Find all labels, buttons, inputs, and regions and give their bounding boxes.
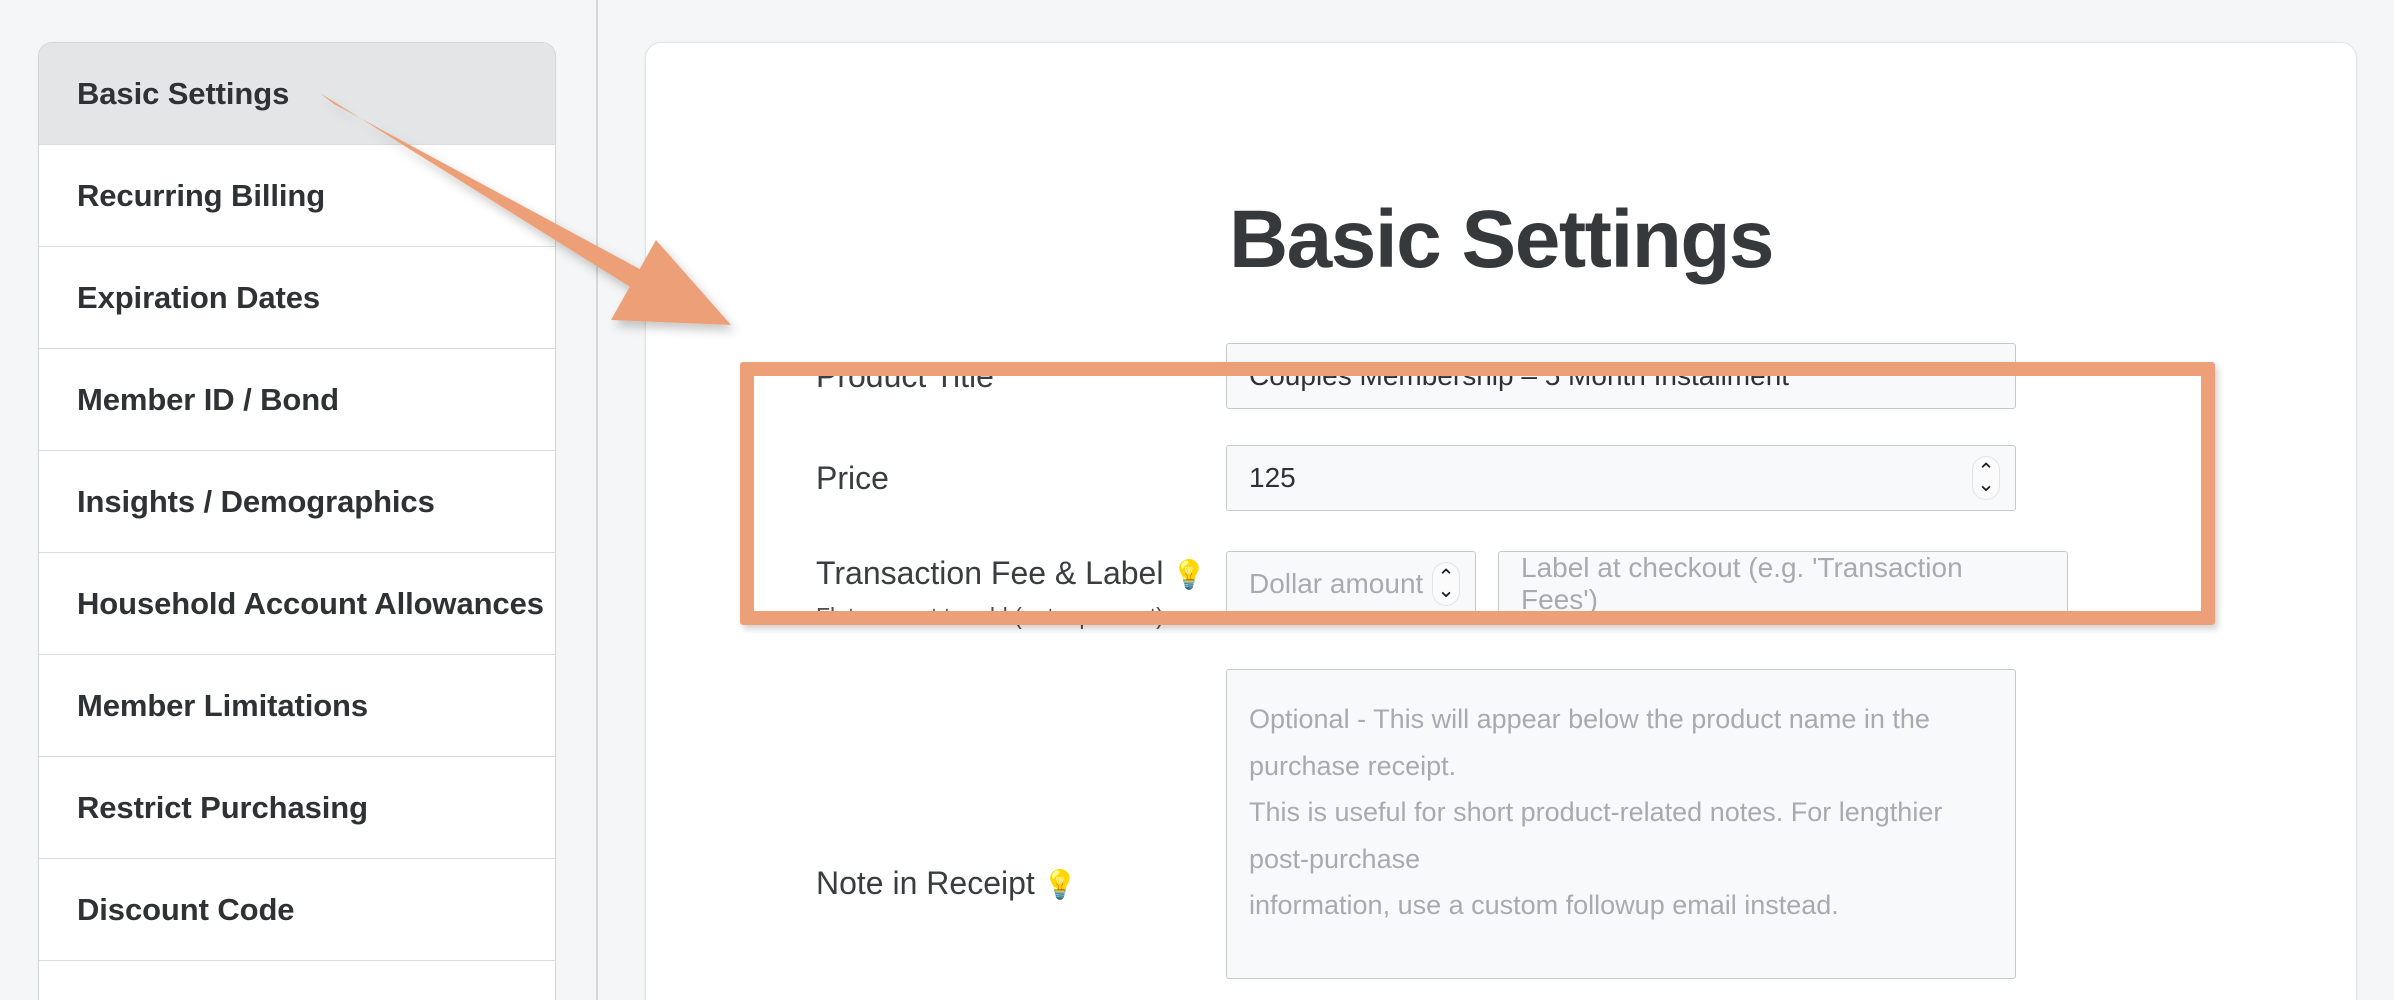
settings-main-card: Basic Settings Product Title Couples Mem…: [645, 42, 2357, 1000]
note-in-receipt-textarea[interactable]: Optional - This will appear below the pr…: [1226, 669, 2016, 979]
field-row-note-in-receipt: Note in Receipt💡 Optional - This will ap…: [646, 669, 2356, 979]
sidebar-item-household-account-allowances[interactable]: Household Account Allowances: [39, 553, 555, 655]
product-title-label: Product Title: [816, 356, 1226, 397]
sidebar-item-recurring-billing[interactable]: Recurring Billing: [39, 145, 555, 247]
sidebar-item-label: Expiration Dates: [77, 280, 320, 316]
transaction-fee-label-placeholder: Label at checkout (e.g. 'Transaction Fee…: [1521, 552, 2045, 616]
sidebar-item-restrict-purchasing[interactable]: Restrict Purchasing: [39, 757, 555, 859]
product-title-input[interactable]: Couples Membership – 5 Month Installment: [1226, 343, 2016, 409]
screen-root: Basic Settings Recurring Billing Expirat…: [0, 0, 2394, 1000]
field-row-price: Price 125 ⌃ ⌄: [646, 445, 2356, 511]
sidebar-item-label: Recurring Billing: [77, 178, 325, 214]
price-label: Price: [816, 458, 1226, 499]
price-value: 125: [1249, 462, 1296, 494]
settings-form: Product Title Couples Membership – 5 Mon…: [646, 343, 2356, 979]
page-title: Basic Settings: [646, 193, 2356, 287]
price-input[interactable]: 125 ⌃ ⌄: [1226, 445, 2016, 511]
sidebar-item-label: Insights / Demographics: [77, 484, 435, 520]
sidebar-item-label: Restrict Purchasing: [77, 790, 368, 826]
note-in-receipt-label-text: Note in Receipt: [816, 865, 1035, 901]
sidebar-item-discount-code[interactable]: Discount Code: [39, 859, 555, 961]
sidebar-item-basic-settings[interactable]: Basic Settings: [39, 43, 555, 145]
sidebar-item-member-limitations[interactable]: Member Limitations: [39, 655, 555, 757]
sidebar-item-member-id-bond[interactable]: Member ID / Bond: [39, 349, 555, 451]
price-stepper[interactable]: ⌃ ⌄: [1973, 457, 1999, 499]
transaction-fee-amount-placeholder: Dollar amount: [1249, 568, 1423, 600]
note-in-receipt-label: Note in Receipt💡: [816, 745, 1226, 904]
transaction-fee-sublabel: Flat amount to add (not a percent): [816, 602, 1226, 631]
product-title-value: Couples Membership – 5 Month Installment: [1249, 360, 1789, 392]
sidebar-item-label: Household Account Allowances: [77, 586, 544, 622]
panel-divider: [596, 0, 598, 1000]
lightbulb-icon: 💡: [1171, 559, 1206, 590]
sidebar-item-label: Member ID / Bond: [77, 382, 339, 418]
transaction-fee-stepper[interactable]: ⌃ ⌄: [1433, 563, 1459, 605]
sidebar-item-label: Member Limitations: [77, 688, 368, 724]
note-placeholder-line-2: This is useful for short product-related…: [1249, 789, 1993, 882]
sidebar-item-label: Discount Code: [77, 892, 294, 928]
transaction-fee-label: Transaction Fee & Label💡 Flat amount to …: [816, 551, 1226, 631]
settings-sidebar: Basic Settings Recurring Billing Expirat…: [38, 42, 556, 1000]
note-placeholder-line-3: information, use a custom followup email…: [1249, 882, 1993, 928]
lightbulb-icon: 💡: [1043, 869, 1078, 900]
field-row-transaction-fee: Transaction Fee & Label💡 Flat amount to …: [646, 551, 2356, 631]
note-placeholder-line-1: Optional - This will appear below the pr…: [1249, 696, 1993, 789]
transaction-fee-label-text: Transaction Fee & Label: [816, 555, 1163, 591]
sidebar-item-label: Basic Settings: [77, 76, 289, 112]
stepper-down-icon[interactable]: ⌄: [1437, 584, 1455, 597]
field-row-product-title: Product Title Couples Membership – 5 Mon…: [646, 343, 2356, 409]
stepper-down-icon[interactable]: ⌄: [1977, 478, 1995, 491]
sidebar-item-expiration-dates[interactable]: Expiration Dates: [39, 247, 555, 349]
transaction-fee-amount-input[interactable]: Dollar amount ⌃ ⌄: [1226, 551, 1476, 617]
sidebar-item-insights-demographics[interactable]: Insights / Demographics: [39, 451, 555, 553]
sidebar-item-next-partial[interactable]: [39, 961, 555, 1000]
transaction-fee-checkout-label-input[interactable]: Label at checkout (e.g. 'Transaction Fee…: [1498, 551, 2068, 617]
